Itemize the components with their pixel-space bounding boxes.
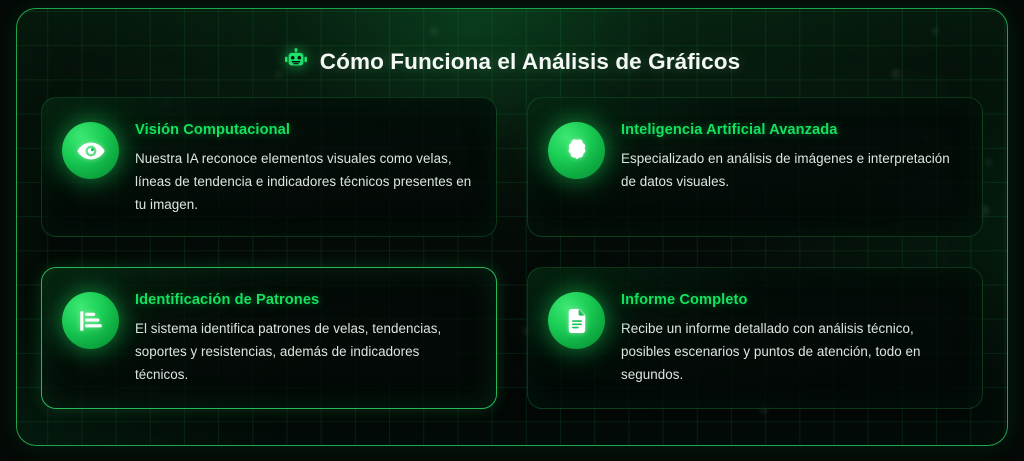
- eye-icon: [62, 122, 119, 179]
- feature-card-identificacion-de-patrones[interactable]: Identificación de Patrones El sistema id…: [41, 267, 497, 409]
- page-title: Cómo Funciona el Análisis de Gráficos: [320, 49, 740, 75]
- card-description: Especializado en análisis de imágenes e …: [621, 147, 962, 193]
- brain-icon: [548, 122, 605, 179]
- bar-chart-icon: [62, 292, 119, 349]
- card-body: Inteligencia Artificial Avanzada Especia…: [621, 120, 962, 193]
- feature-card-inteligencia-artificial-avanzada[interactable]: Inteligencia Artificial Avanzada Especia…: [527, 97, 983, 237]
- card-title: Identificación de Patrones: [135, 292, 476, 308]
- card-title: Visión Computacional: [135, 122, 476, 138]
- feature-card-vision-computacional[interactable]: Visión Computacional Nuestra IA reconoce…: [41, 97, 497, 237]
- card-description: El sistema identifica patrones de velas,…: [135, 317, 476, 386]
- card-description: Nuestra IA reconoce elementos visuales c…: [135, 147, 476, 216]
- robot-icon: [284, 48, 308, 77]
- card-title: Informe Completo: [621, 292, 962, 308]
- card-body: Identificación de Patrones El sistema id…: [135, 290, 476, 386]
- panel-header: Cómo Funciona el Análisis de Gráficos: [17, 9, 1007, 83]
- card-title: Inteligencia Artificial Avanzada: [621, 122, 962, 138]
- document-icon: [548, 292, 605, 349]
- card-description: Recibe un informe detallado con análisis…: [621, 317, 962, 386]
- card-body: Informe Completo Recibe un informe detal…: [621, 290, 962, 386]
- feature-card-informe-completo[interactable]: Informe Completo Recibe un informe detal…: [527, 267, 983, 409]
- feature-panel-wrapper: Cómo Funciona el Análisis de Gráficos Vi…: [16, 8, 1008, 446]
- feature-panel: Cómo Funciona el Análisis de Gráficos Vi…: [16, 8, 1008, 446]
- card-body: Visión Computacional Nuestra IA reconoce…: [135, 120, 476, 216]
- feature-cards-grid: Visión Computacional Nuestra IA reconoce…: [17, 83, 1007, 409]
